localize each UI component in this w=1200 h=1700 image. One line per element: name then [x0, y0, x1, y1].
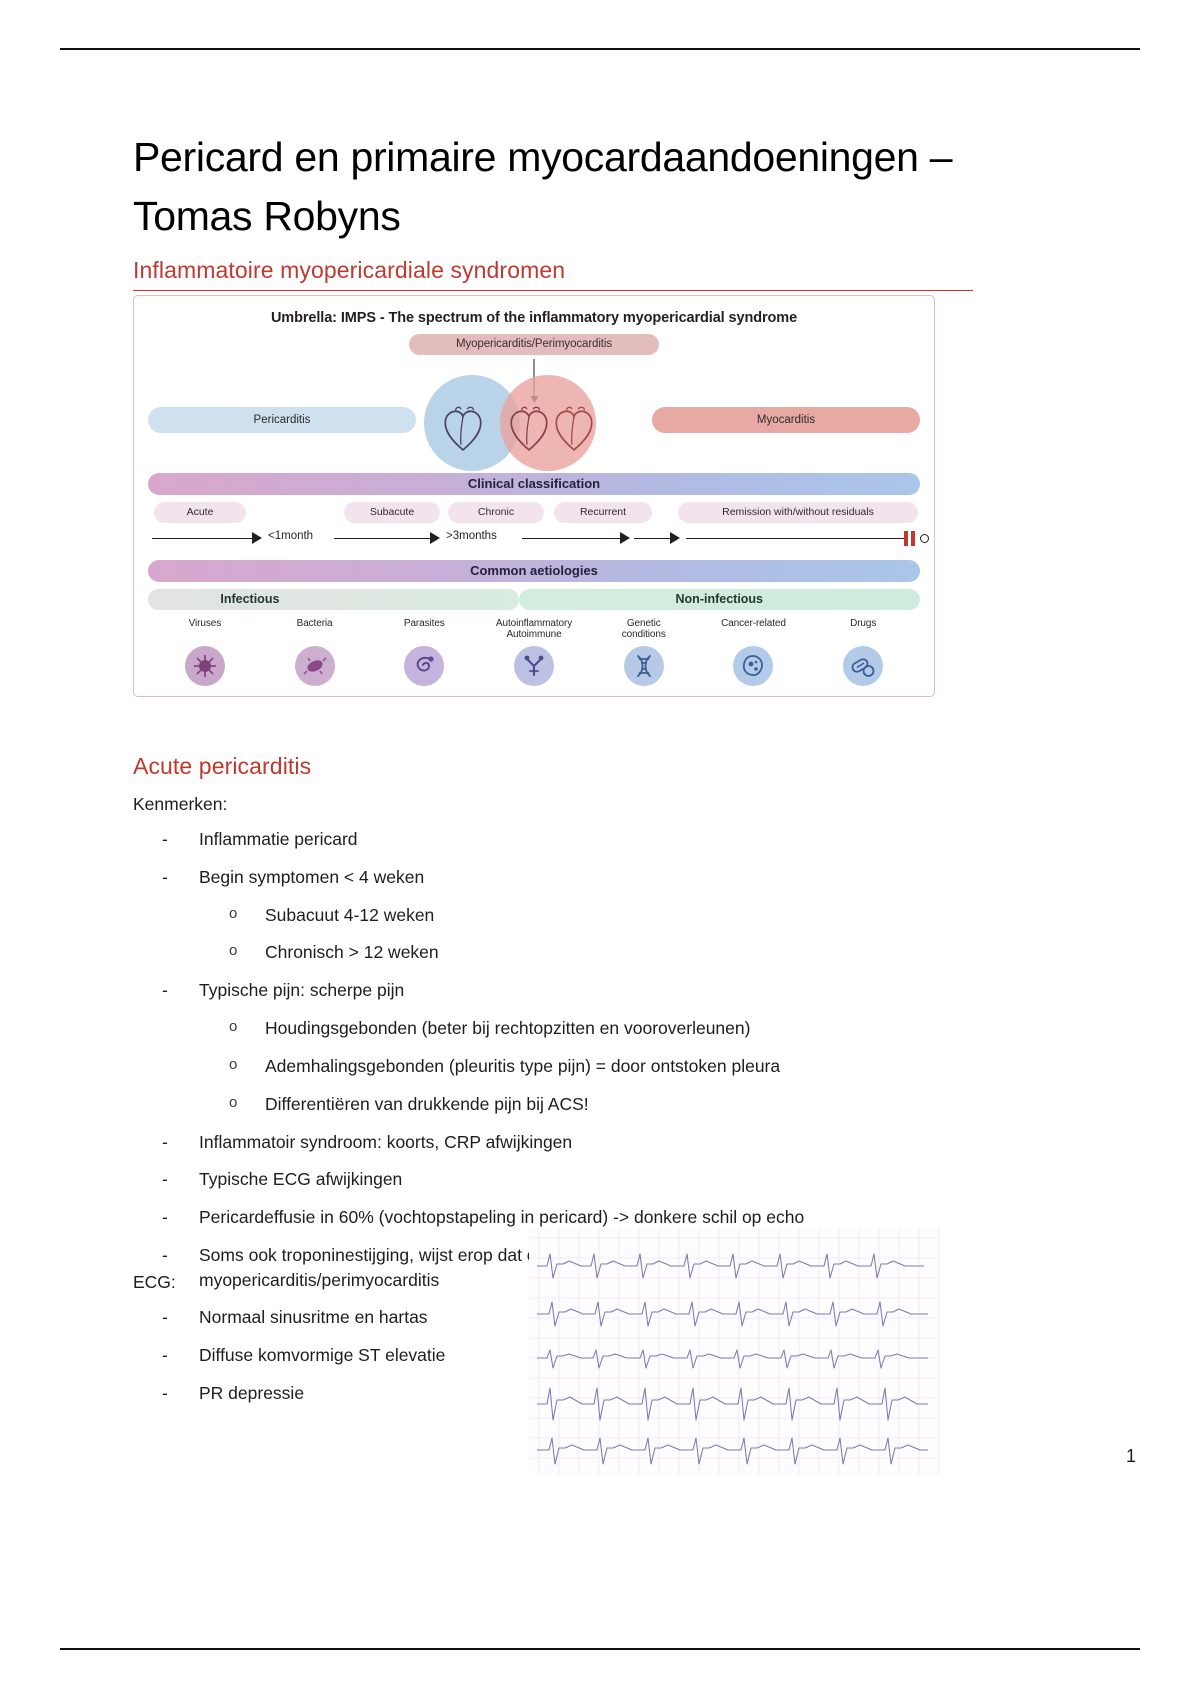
sublist-item: o Chronisch > 12 weken	[199, 940, 973, 965]
list-item-text: Typische ECG afwijkingen	[199, 1169, 402, 1189]
infectious-band: Infectious	[148, 589, 519, 610]
aetiology-label: Autoinflammatory Autoimmune	[479, 618, 589, 642]
page-title: Pericard en primaire myocardaandoeningen…	[133, 128, 973, 247]
sublist-item-text: Ademhalingsgebonden (pleuritis type pijn…	[265, 1056, 780, 1076]
bullet-dash-icon: -	[162, 1305, 168, 1330]
bullet-dash-icon: -	[162, 1167, 168, 1192]
bullet-dash-icon: -	[162, 978, 168, 1003]
timeline-stop-marker	[911, 531, 915, 546]
ecg-section: ECG: - Normaal sinusritme en hartas - Di…	[133, 1272, 553, 1419]
timeline-segment	[634, 538, 672, 540]
class-chip-chronic: Chronic	[448, 502, 544, 523]
noninfectious-band: Non-infectious	[519, 589, 920, 610]
list-item-text: PR depressie	[199, 1383, 304, 1403]
list-item: - Typische pijn: scherpe pijn o Houdings…	[133, 978, 973, 1116]
heart-icon	[508, 405, 550, 453]
bacteria-icon	[295, 646, 335, 686]
bullet-circle-icon: o	[229, 940, 237, 961]
page-number: 1	[1126, 1446, 1136, 1467]
aetiology-label: Parasites	[369, 618, 479, 642]
pericarditis-label-pill: Pericarditis	[148, 407, 416, 433]
document-page: Pericard en primaire myocardaandoeningen…	[0, 0, 1200, 1700]
timeline-arrow-icon	[252, 532, 262, 544]
clinical-classification-band: Clinical classification	[148, 473, 920, 495]
aetiology-item-drugs: Drugs	[808, 618, 918, 686]
figure-title: Umbrella: IMPS - The spectrum of the inf…	[134, 310, 934, 326]
bullet-dash-icon: -	[162, 1343, 168, 1368]
aetiology-label-line1: Genetic	[627, 618, 661, 629]
section-heading-inflammatoire: Inflammatoire myopericardiale syndromen	[133, 257, 973, 284]
aetiology-label-line1: Autoinflammatory	[496, 618, 572, 629]
timeline-end-circle	[920, 534, 929, 543]
infectious-label: Infectious	[220, 592, 279, 606]
aetiology-label: Viruses	[150, 618, 260, 642]
timeline: <1month >3months	[148, 528, 920, 550]
venn-diagram: Pericarditis Myocarditis	[148, 359, 920, 463]
footer-rule	[60, 1648, 1140, 1650]
aetiology-items: Viruses	[148, 618, 920, 686]
list-item: - Diffuse komvormige ST elevatie	[133, 1343, 553, 1368]
ecg-label: ECG:	[133, 1272, 553, 1293]
bullet-circle-icon: o	[229, 1016, 237, 1037]
aetiology-label-line2: Autoimmune	[506, 629, 561, 640]
sublist-item: o Subacuut 4-12 weken	[199, 903, 973, 928]
list-item: - Typische ECG afwijkingen	[133, 1167, 973, 1192]
imps-figure: Umbrella: IMPS - The spectrum of the inf…	[133, 295, 935, 697]
common-aetiologies-band: Common aetiologies	[148, 560, 920, 582]
timeline-arrow-icon	[620, 532, 630, 544]
heart-icon	[553, 405, 595, 453]
sublist: o Houdingsgebonden (beter bij rechtopzit…	[199, 1016, 973, 1117]
list-item-text: Typische pijn: scherpe pijn	[199, 980, 404, 1000]
sublist-item-text: Chronisch > 12 weken	[265, 942, 439, 962]
aetiology-item-viruses: Viruses	[150, 618, 260, 686]
timeline-segment	[686, 538, 906, 540]
header-rule	[60, 48, 1140, 50]
bullet-dash-icon: -	[162, 1243, 168, 1268]
noninfectious-label: Non-infectious	[676, 592, 764, 606]
sublist-item-text: Subacuut 4-12 weken	[265, 905, 434, 925]
kenmerken-label: Kenmerken:	[133, 794, 973, 815]
heart-icon	[442, 405, 484, 453]
timeline-label-3months: >3months	[446, 530, 497, 542]
sublist-item: o Houdingsgebonden (beter bij rechtopzit…	[199, 1016, 973, 1041]
aetiology-item-cancer: Cancer-related	[699, 618, 809, 686]
list-item: - Normaal sinusritme en hartas	[133, 1305, 553, 1330]
aetiology-label: Bacteria	[260, 618, 370, 642]
bullet-dash-icon: -	[162, 865, 168, 890]
list-item: - Begin symptomen < 4 weken o Subacuut 4…	[133, 865, 973, 966]
myocarditis-label-pill: Myocarditis	[652, 407, 920, 433]
list-item-text: Diffuse komvormige ST elevatie	[199, 1345, 445, 1365]
timeline-label-1month: <1month	[268, 530, 313, 542]
bullet-circle-icon: o	[229, 1054, 237, 1075]
aetiology-item-autoimmune: Autoinflammatory Autoimmune	[479, 618, 589, 686]
virus-icon	[185, 646, 225, 686]
timeline-segment	[152, 538, 254, 540]
sublist-item: o Differentiëren van drukkende pijn bij …	[199, 1092, 973, 1117]
timeline-arrow-icon	[430, 532, 440, 544]
timeline-stop-marker	[904, 531, 908, 546]
list-item: - Inflammatie pericard	[133, 827, 973, 852]
section-heading-acute-pericarditis: Acute pericarditis	[133, 753, 973, 780]
list-item-text: Inflammatoir syndroom: koorts, CRP afwij…	[199, 1132, 572, 1152]
bullet-dash-icon: -	[162, 827, 168, 852]
aetiology-item-parasites: Parasites	[369, 618, 479, 686]
bullet-circle-icon: o	[229, 1092, 237, 1113]
pills-icon	[843, 646, 883, 686]
class-chip-recurrent: Recurrent	[554, 502, 652, 523]
parasite-icon	[404, 646, 444, 686]
kenmerken-list: - Inflammatie pericard - Begin symptomen…	[133, 827, 973, 1293]
overlap-label-pill: Myopericarditis/Perimyocarditis	[409, 334, 659, 355]
class-chip-subacute: Subacute	[344, 502, 440, 523]
list-item-text: Inflammatie pericard	[199, 829, 358, 849]
list-item-text: Normaal sinusritme en hartas	[199, 1307, 428, 1327]
ecg-image	[529, 1228, 940, 1475]
bullet-dash-icon: -	[162, 1381, 168, 1406]
list-item-text: Pericardeffusie in 60% (vochtopstapeling…	[199, 1207, 804, 1227]
aetiology-label: Drugs	[808, 618, 918, 642]
bullet-dash-icon: -	[162, 1205, 168, 1230]
figure-body: Myopericarditis/Perimyocarditis	[134, 334, 934, 686]
list-item: - PR depressie	[133, 1381, 553, 1406]
bullet-dash-icon: -	[162, 1130, 168, 1155]
class-chip-acute: Acute	[154, 502, 246, 523]
timeline-arrow-icon	[670, 532, 680, 544]
sublist-item: o Ademhalingsgebonden (pleuritis type pi…	[199, 1054, 973, 1079]
list-item: - Pericardeffusie in 60% (vochtopstapeli…	[133, 1205, 973, 1230]
figure-spacer	[133, 697, 973, 753]
classification-chips: Acute Subacute Chronic Recurrent Remissi…	[148, 502, 920, 528]
autoimmune-icon	[514, 646, 554, 686]
bullet-circle-icon: o	[229, 903, 237, 924]
sublist-item-text: Differentiëren van drukkende pijn bij AC…	[265, 1094, 589, 1114]
class-chip-remission: Remission with/without residuals	[678, 502, 918, 523]
list-item-text: Begin symptomen < 4 weken	[199, 867, 424, 887]
page-content: Pericard en primaire myocardaandoeningen…	[133, 128, 973, 1306]
timeline-segment	[522, 538, 622, 540]
aetiology-label: Cancer-related	[699, 618, 809, 642]
sublist-item-text: Houdingsgebonden (beter bij rechtopzitte…	[265, 1018, 750, 1038]
aetiology-label: Genetic conditions	[589, 618, 699, 642]
ecg-list: - Normaal sinusritme en hartas - Diffuse…	[133, 1305, 553, 1406]
timeline-segment	[334, 538, 432, 540]
section-divider	[133, 290, 973, 291]
cancer-cell-icon	[733, 646, 773, 686]
aetiology-item-bacteria: Bacteria	[260, 618, 370, 686]
aetiology-label-line2: conditions	[622, 629, 666, 640]
sublist: o Subacuut 4-12 weken o Chronisch > 12 w…	[199, 903, 973, 966]
dna-icon	[624, 646, 664, 686]
aetiology-item-genetic: Genetic conditions	[589, 618, 699, 686]
list-item: - Inflammatoir syndroom: koorts, CRP afw…	[133, 1130, 973, 1155]
aetiology-category-bands: Infectious Non-infectious	[148, 589, 920, 610]
